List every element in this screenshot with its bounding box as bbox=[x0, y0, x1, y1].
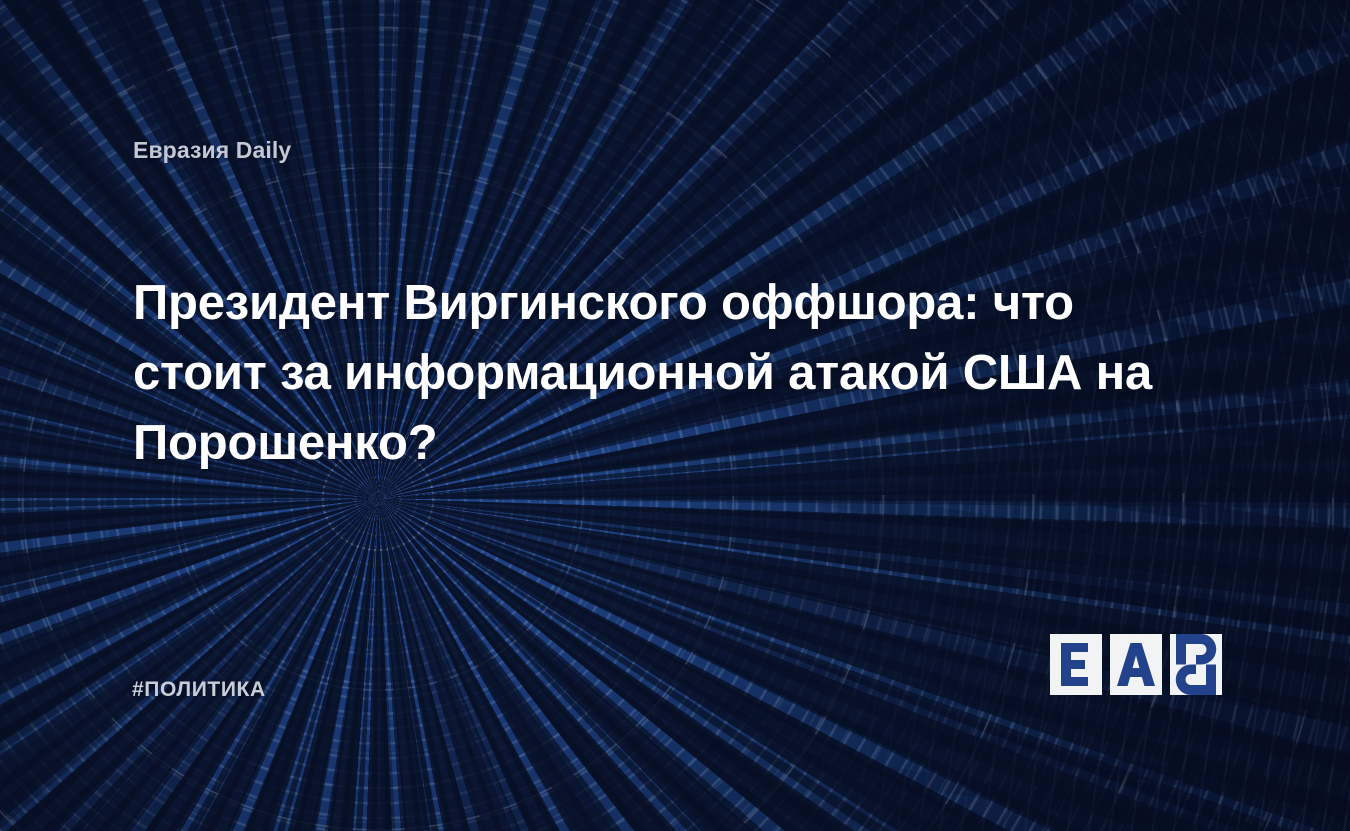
publication-brand: Евразия Daily bbox=[133, 137, 291, 164]
news-share-card: Евразия Daily Президент Виргинского оффш… bbox=[0, 0, 1350, 831]
logo-tile-e bbox=[1050, 634, 1102, 695]
article-headline: Президент Виргинского оффшора: что стоит… bbox=[133, 268, 1208, 478]
logo-tile-d bbox=[1170, 634, 1222, 695]
logo-tile-a bbox=[1110, 634, 1162, 695]
eadaily-logo bbox=[1050, 634, 1222, 695]
category-tag: #ПОЛИТИКА bbox=[132, 678, 266, 702]
